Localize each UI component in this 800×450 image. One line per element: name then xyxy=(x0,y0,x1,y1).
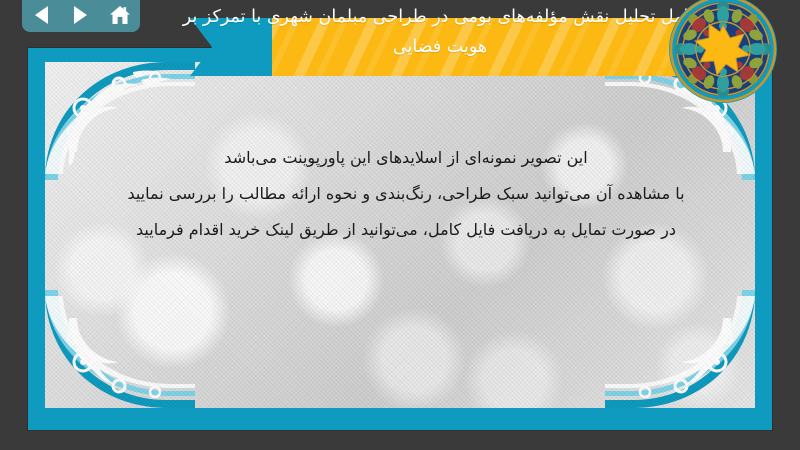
triangle-left-icon xyxy=(35,6,48,24)
corner-ornament-bottom-left-icon xyxy=(45,288,195,408)
home-button[interactable] xyxy=(107,3,133,27)
prev-slide-button[interactable] xyxy=(29,3,55,27)
slide-content-area: این تصویر نمونه‌ای از اسلایدهای این پاور… xyxy=(45,62,755,408)
corner-ornament-bottom-right-icon xyxy=(605,288,755,408)
next-slide-button[interactable] xyxy=(68,3,94,27)
slide-viewer: این تصویر نمونه‌ای از اسلایدهای این پاور… xyxy=(0,0,800,450)
home-icon xyxy=(109,5,131,25)
slide-body-text: این تصویر نمونه‌ای از اسلایدهای این پاور… xyxy=(85,140,727,248)
body-line-1: این تصویر نمونه‌ای از اسلایدهای این پاور… xyxy=(85,140,727,176)
slide-frame: این تصویر نمونه‌ای از اسلایدهای این پاور… xyxy=(28,48,772,430)
body-line-3: در صورت تمایل به دریافت فایل کامل، می‌تو… xyxy=(85,212,727,248)
persian-mandala-medallion-icon xyxy=(668,0,778,104)
navigation-bar xyxy=(22,0,140,32)
slide-title: کامل تحلیل نقش مؤلفه‌های بومی در طراحی م… xyxy=(180,2,700,62)
body-line-2: با مشاهده آن می‌توانید سبک طراحی، رنگ‌بن… xyxy=(85,176,727,212)
triangle-right-icon xyxy=(74,6,87,24)
